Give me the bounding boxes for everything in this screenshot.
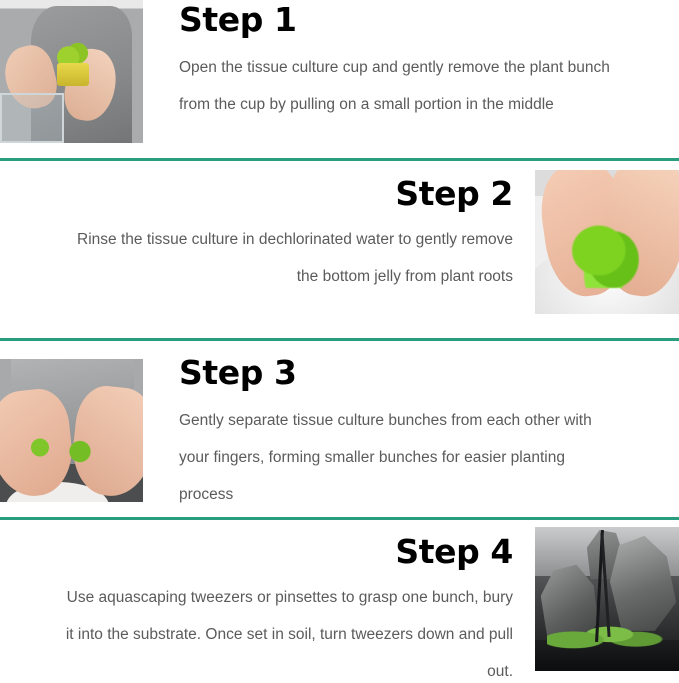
step-3-body: Gently separate tissue culture bunches f…: [179, 393, 621, 513]
step-3-text-column: Step 3 Gently separate tissue culture bu…: [143, 341, 679, 513]
step-4-title: Step 4: [58, 520, 513, 572]
step-1-text-column: Step 1 Open the tissue culture cup and g…: [143, 0, 679, 123]
step-1-body: Open the tissue culture cup and gently r…: [179, 40, 621, 123]
step-row-4: Step 4 Use aquascaping tweezers or pinse…: [0, 520, 679, 683]
step-1-title: Step 1: [179, 0, 621, 40]
step-2-text-column: Step 2 Rinse the tissue culture in dechl…: [0, 161, 535, 295]
culture-cup-shape: [57, 63, 88, 86]
step-3-image: [0, 359, 143, 502]
step-4-image: [535, 527, 679, 671]
plant-bunch-right-shape: [66, 439, 95, 465]
aquarium-shape: [0, 93, 64, 143]
step-1-image: [0, 0, 143, 143]
step-2-title: Step 2: [58, 161, 513, 214]
plant-bunch-left-shape: [29, 436, 52, 459]
plant-shape: [572, 213, 638, 288]
step-row-2: Step 2 Rinse the tissue culture in dechl…: [0, 161, 679, 338]
step-2-image: [535, 170, 679, 314]
step-4-body: Use aquascaping tweezers or pinsettes to…: [58, 572, 513, 683]
steps-infographic: Step 1 Open the tissue culture cup and g…: [0, 0, 679, 683]
step-4-text-column: Step 4 Use aquascaping tweezers or pinse…: [0, 520, 535, 683]
step-3-title: Step 3: [179, 341, 621, 393]
step-2-body: Rinse the tissue culture in dechlorinate…: [58, 214, 513, 295]
step-row-1: Step 1 Open the tissue culture cup and g…: [0, 0, 679, 158]
step-row-3: Step 3 Gently separate tissue culture bu…: [0, 341, 679, 518]
